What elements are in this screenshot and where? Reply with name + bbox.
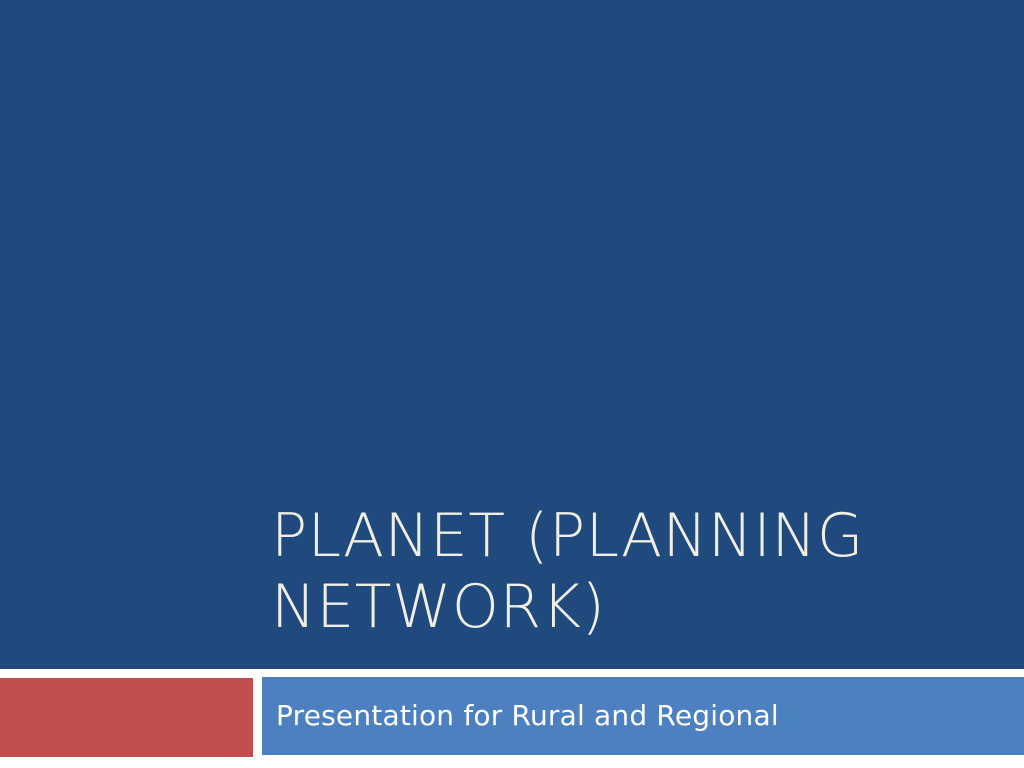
slide-subtitle: Presentation for Rural and Regional: [262, 699, 779, 733]
title-block: Planet (Planning Network): [271, 501, 971, 643]
slide-footer-strip: Presentation for Rural and Regional: [0, 669, 1024, 768]
accent-block: [0, 678, 253, 757]
subtitle-bar: Presentation for Rural and Regional: [262, 677, 1024, 755]
presentation-title-slide: Planet (Planning Network) Presentation f…: [0, 0, 1024, 768]
page-title: Planet (Planning Network): [271, 501, 971, 643]
